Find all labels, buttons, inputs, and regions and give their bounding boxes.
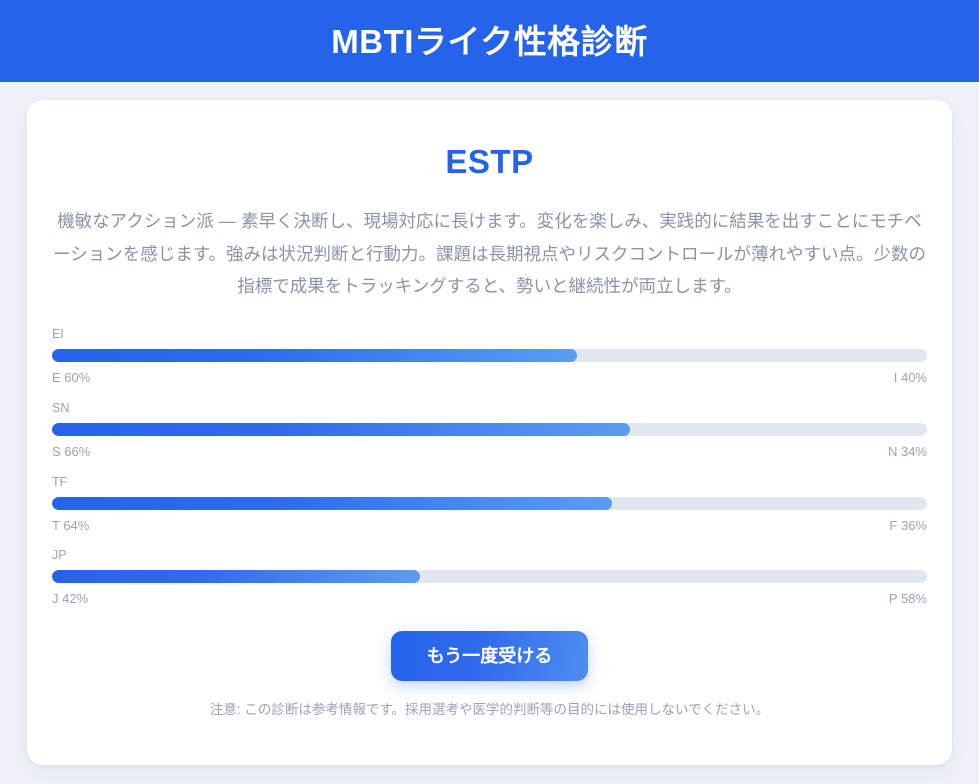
axis-left-label: T 64%	[52, 518, 89, 534]
axis-left-label: S 66%	[52, 444, 90, 460]
axis-legend: T 64% F 36%	[52, 518, 927, 534]
axis-fill	[52, 497, 612, 510]
axis-name: SN	[52, 401, 927, 416]
axis-right-label: P 58%	[889, 591, 927, 607]
axis-row-sn: SN S 66% N 34%	[52, 401, 927, 460]
app-header: MBTIライク性格診断	[0, 0, 979, 82]
axis-row-ei: EI E 60% I 40%	[52, 327, 927, 386]
axis-legend: J 42% P 58%	[52, 591, 927, 607]
axis-right-label: F 36%	[889, 518, 927, 534]
axis-track	[52, 497, 927, 510]
result-description: 機敏なアクション派 — 素早く決断し、現場対応に長けます。変化を楽しみ、実践的に…	[51, 205, 928, 302]
axis-name: EI	[52, 327, 927, 342]
axis-name: JP	[52, 548, 927, 563]
disclaimer-note: 注意: この診断は参考情報です。採用選考や医学的判断等の目的には使用しないでくだ…	[51, 701, 928, 720]
axis-fill	[52, 570, 420, 583]
axis-legend: S 66% N 34%	[52, 444, 927, 460]
axis-track	[52, 570, 927, 583]
axis-row-jp: JP J 42% P 58%	[52, 548, 927, 607]
result-card: ESTP 機敏なアクション派 — 素早く決断し、現場対応に長けます。変化を楽しみ…	[27, 100, 952, 765]
app-root: MBTIライク性格診断 ESTP 機敏なアクション派 — 素早く決断し、現場対応…	[0, 0, 979, 784]
axis-right-label: N 34%	[888, 444, 927, 460]
axis-fill	[52, 349, 577, 362]
actions-row: もう一度受ける	[51, 631, 928, 681]
axis-list: EI E 60% I 40% SN S 66%	[51, 327, 928, 606]
axis-track	[52, 423, 927, 436]
page-body: ESTP 機敏なアクション派 — 素早く決断し、現場対応に長けます。変化を楽しみ…	[0, 82, 979, 784]
result-type-code: ESTP	[51, 144, 928, 180]
page-title: MBTIライク性格診断	[331, 25, 648, 58]
axis-name: TF	[52, 475, 927, 490]
axis-left-label: J 42%	[52, 591, 88, 607]
axis-left-label: E 60%	[52, 370, 90, 386]
axis-legend: E 60% I 40%	[52, 370, 927, 386]
axis-fill	[52, 423, 630, 436]
axis-row-tf: TF T 64% F 36%	[52, 475, 927, 534]
retake-button[interactable]: もう一度受ける	[391, 631, 588, 681]
axis-track	[52, 349, 927, 362]
axis-right-label: I 40%	[894, 370, 927, 386]
